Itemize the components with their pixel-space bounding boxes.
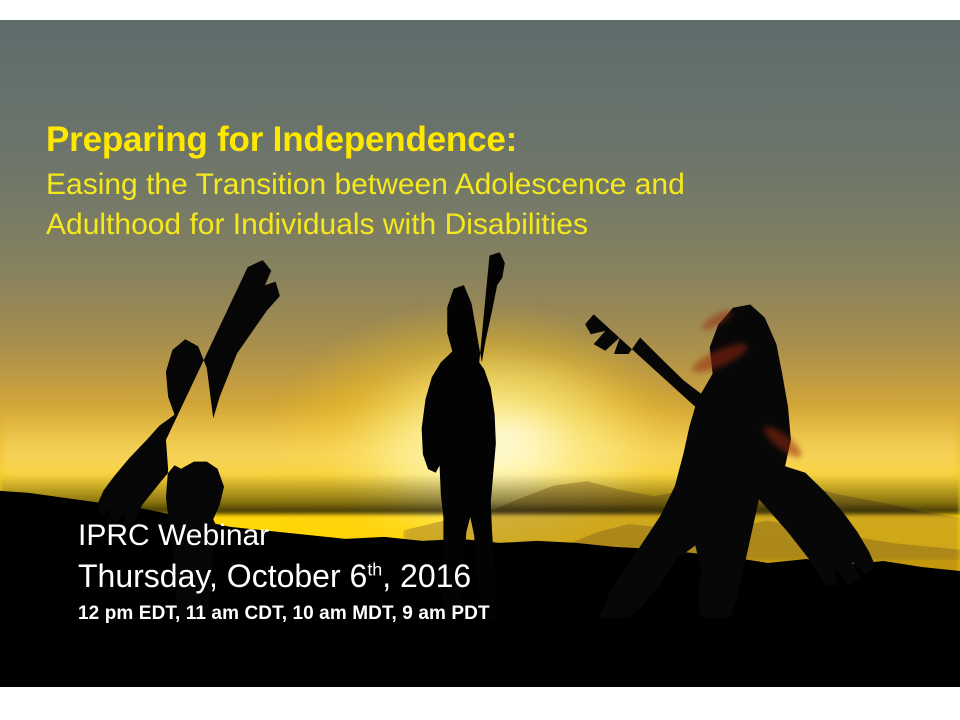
footer-block: IPRC Webinar Thursday, October 6th, 2016… bbox=[78, 518, 798, 625]
slide-title: Preparing for Independence: bbox=[46, 120, 826, 159]
slide-subtitle: Easing the Transition between Adolescenc… bbox=[46, 165, 786, 245]
webinar-date-ordinal: th bbox=[367, 559, 382, 579]
presentation-slide: Preparing for Independence: Easing the T… bbox=[0, 0, 960, 720]
webinar-date-suffix: , 2016 bbox=[382, 558, 471, 594]
webinar-times: 12 pm EDT, 11 am CDT, 10 am MDT, 9 am PD… bbox=[78, 602, 798, 625]
webinar-date-prefix: Thursday, October 6 bbox=[78, 558, 367, 594]
webinar-organization: IPRC Webinar bbox=[78, 518, 798, 555]
webinar-date: Thursday, October 6th, 2016 bbox=[78, 557, 798, 596]
title-block: Preparing for Independence: Easing the T… bbox=[46, 120, 826, 245]
background-photo: Preparing for Independence: Easing the T… bbox=[0, 20, 960, 687]
